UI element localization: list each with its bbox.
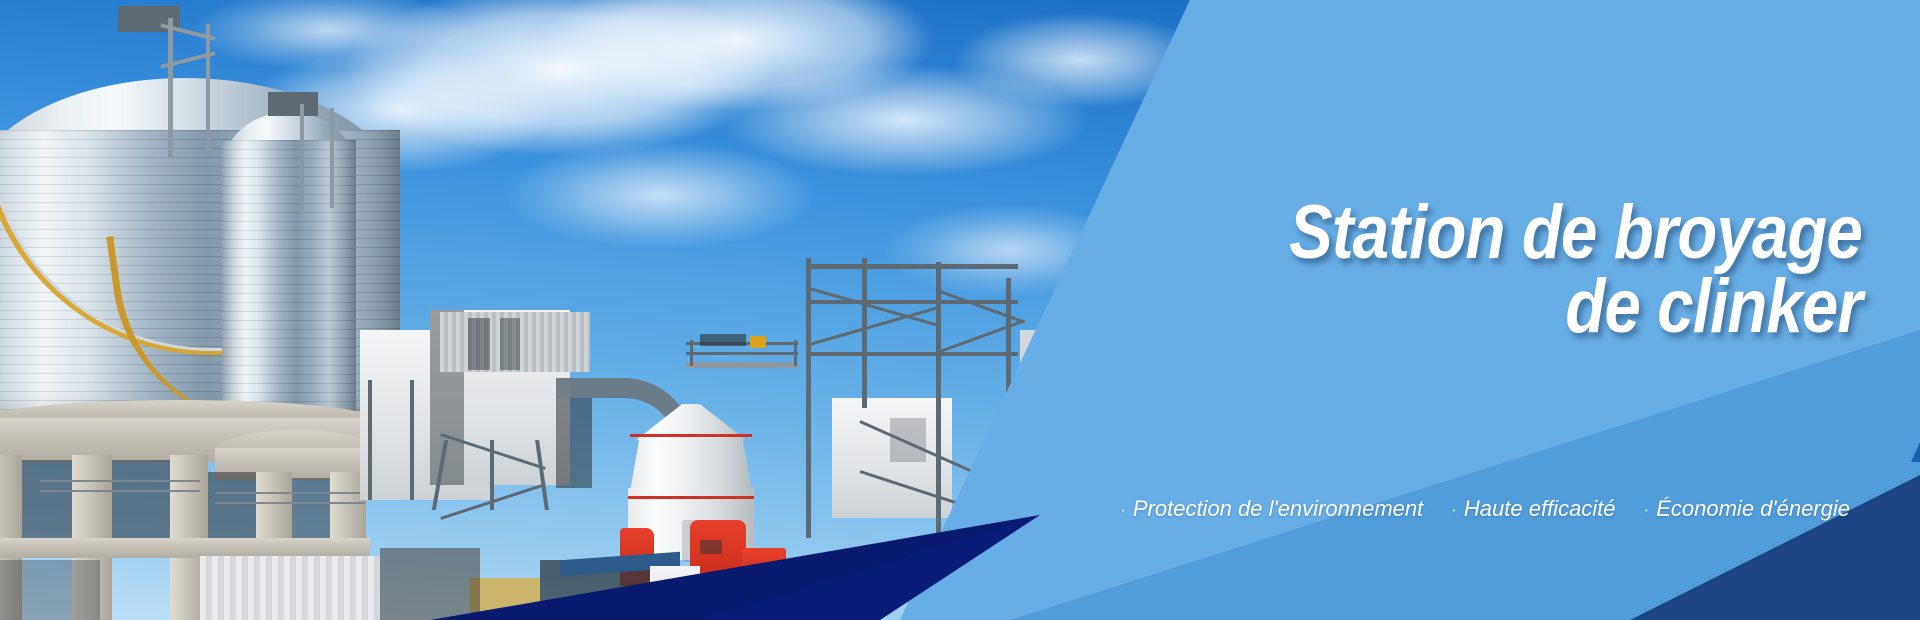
silo-right-roof-box [268,92,318,116]
foreground-box [650,566,700,620]
silo-right-mast [330,108,334,208]
handrail [215,502,365,504]
tower-column [862,258,867,408]
mill-red-stripe [630,434,752,437]
page-title: Station de broyage de clinker [1071,196,1862,345]
feature-item-environment: · Protection de l'environnement [1120,496,1423,522]
feature-label: Haute efficacité [1464,496,1616,522]
concrete-beam [0,538,370,558]
window-strip [500,318,520,370]
bullet-icon: · [1644,501,1650,518]
silo-right-mast [300,104,304,214]
clad-wall [200,556,380,620]
duct-riser [556,398,592,488]
platform-post [794,340,797,366]
feature-item-efficiency: · Haute efficacité [1451,496,1615,522]
promo-banner: Station de broyage de clinker Solution g… [0,0,1920,620]
structure-opening [292,478,330,542]
bullet-icon: · [1120,501,1126,518]
mill-platform [686,362,798,368]
steel-brace [368,380,372,500]
platform-rail [686,352,798,355]
foreground-wall-tan [470,578,540,620]
steel-brace [410,380,414,500]
feature-label: Protection de l'environnement [1133,496,1423,522]
feature-item-energy: · Économie d'énergie [1644,496,1850,522]
platform-equipment [700,334,746,346]
structure-opening [22,460,72,542]
bullet-icon: · [1451,501,1457,518]
motor-red-right [742,548,786,590]
feature-label: Économie d'énergie [1656,496,1850,522]
motor-detail [700,540,722,554]
structure-opening [112,460,170,542]
platform-equipment-yellow [750,336,766,348]
text-content: Station de broyage de clinker Solution g… [890,0,1920,620]
handrail [215,492,365,494]
mill-upper-body [630,436,752,492]
feature-list: · Protection de l'environnement · Haute … [1120,496,1850,522]
window-strip [468,318,490,370]
structure-opening [208,472,256,542]
handrail [40,490,200,492]
handrail [40,480,200,482]
silo-right-body [222,140,356,440]
subtitle-band [1911,414,1920,462]
platform-post [690,340,693,366]
ground-shadow [0,560,100,620]
foreground-dark-mass [380,548,480,620]
mill-red-stripe [628,496,754,499]
